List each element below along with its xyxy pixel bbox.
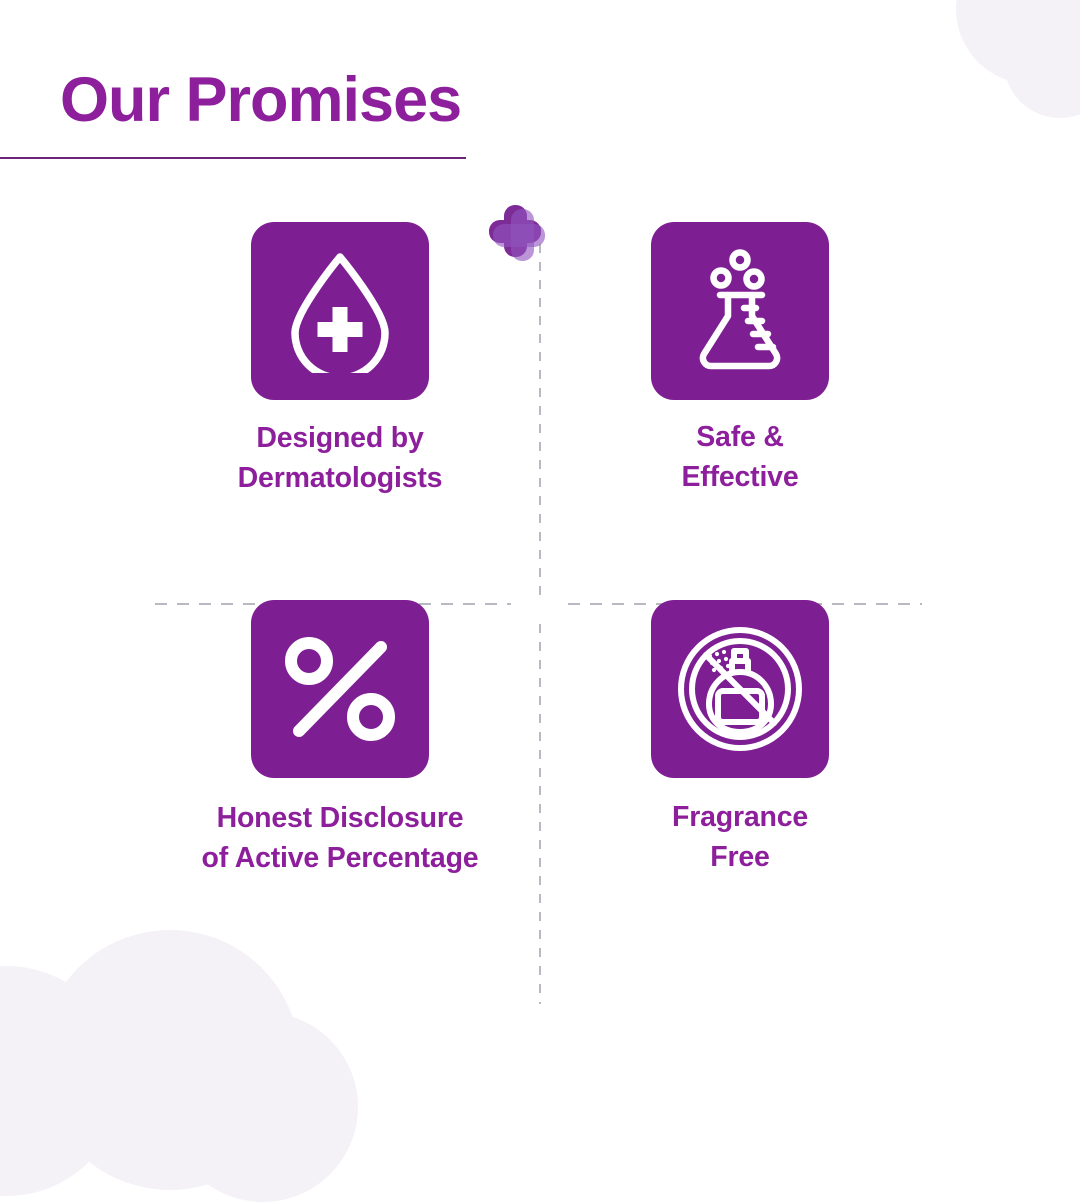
promise-card-safe-and-effective: Safe & Effective (470, 222, 1010, 498)
plus-mark-icon (489, 205, 545, 257)
title-underline-rule (0, 157, 466, 159)
promise-label: Safe & Effective (470, 417, 1010, 498)
no-fragrance-icon (676, 625, 804, 753)
droplet-plus-icon (281, 249, 399, 373)
plus-mark-horizontal-bar-light (493, 224, 545, 247)
percent-icon (281, 633, 399, 745)
blob-top-right-medium (1004, 6, 1080, 118)
blob-bottom-left-right (168, 1012, 358, 1202)
promise-icon-tile (251, 222, 429, 400)
promise-label: Fragrance Free (470, 797, 1010, 878)
promise-icon-tile (651, 222, 829, 400)
blob-top-right-small (960, 0, 1036, 42)
flask-icon (680, 248, 800, 374)
page-title: Our Promises (60, 66, 461, 134)
blob-top-right-large (956, 0, 1080, 84)
promise-icon-tile (251, 600, 429, 778)
promises-grid: Designed by Dermatologists (0, 222, 1080, 1012)
promise-card-fragrance-free: Fragrance Free (470, 600, 1010, 878)
promise-icon-tile (651, 600, 829, 778)
blob-bottom-left-small (0, 1014, 90, 1164)
